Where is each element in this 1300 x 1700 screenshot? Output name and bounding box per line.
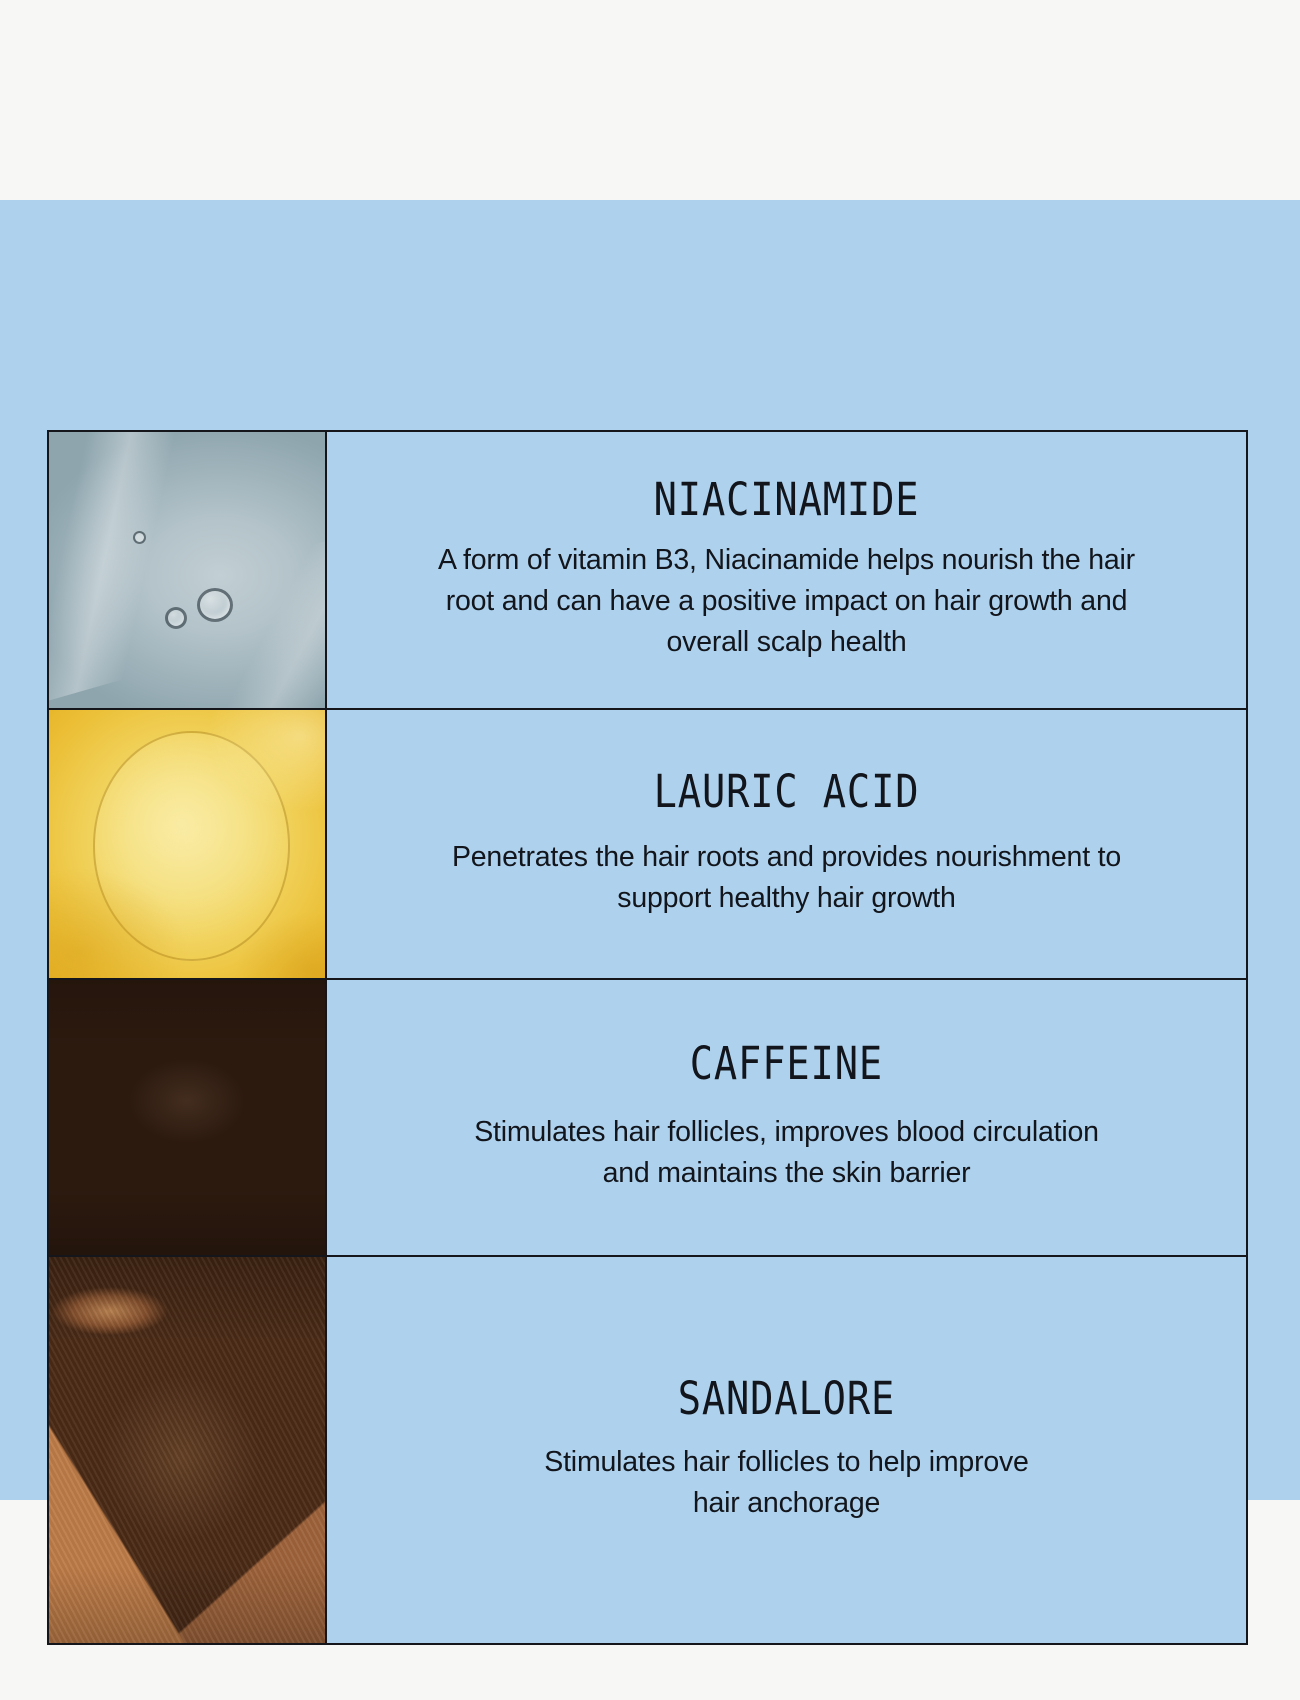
text-cell-lauric-acid: LAURIC ACID Penetrates the hair roots an…	[327, 710, 1246, 978]
table-row: CAFFEINE Stimulates hair follicles, impr…	[49, 980, 1246, 1257]
swatch-cell-lauric-acid	[49, 710, 327, 978]
lauric-acid-oil-swatch	[49, 710, 325, 978]
text-cell-niacinamide: NIACINAMIDE A form of vitamin B3, Niacin…	[327, 432, 1246, 708]
table-row: NIACINAMIDE A form of vitamin B3, Niacin…	[49, 432, 1246, 710]
ingredient-title: SANDALORE	[678, 1376, 895, 1423]
ingredient-title: NIACINAMIDE	[654, 477, 920, 524]
bubble-icon	[197, 588, 233, 622]
ingredient-title: CAFFEINE	[690, 1041, 883, 1088]
ingredient-description: Stimulates hair follicles to help improv…	[527, 1442, 1047, 1524]
swatch-cell-niacinamide	[49, 432, 327, 708]
niacinamide-serum-swatch	[49, 432, 325, 708]
table-row: LAURIC ACID Penetrates the hair roots an…	[49, 710, 1246, 980]
table-row: SANDALORE Stimulates hair follicles to h…	[49, 1257, 1246, 1643]
ingredient-description: A form of vitamin B3, Niacinamide helps …	[417, 540, 1157, 663]
ingredient-description: Penetrates the hair roots and provides n…	[437, 837, 1137, 919]
text-cell-caffeine: CAFFEINE Stimulates hair follicles, impr…	[327, 980, 1246, 1255]
screenshot-stage: NIACINAMIDE A form of vitamin B3, Niacin…	[0, 0, 1300, 1700]
bubble-icon	[165, 607, 187, 629]
caffeine-coffee-beans-swatch	[49, 980, 325, 1255]
ingredient-benefits-table: NIACINAMIDE A form of vitamin B3, Niacin…	[47, 430, 1248, 1645]
swatch-cell-caffeine	[49, 980, 327, 1255]
sandalore-sandalwood-swatch	[49, 1257, 325, 1643]
ingredient-panel: NIACINAMIDE A form of vitamin B3, Niacin…	[0, 200, 1300, 1500]
bubble-icon	[133, 531, 146, 544]
swatch-cell-sandalore	[49, 1257, 327, 1643]
ingredient-description: Stimulates hair follicles, improves bloo…	[457, 1112, 1117, 1194]
text-cell-sandalore: SANDALORE Stimulates hair follicles to h…	[327, 1257, 1246, 1643]
ingredient-title: LAURIC ACID	[654, 769, 920, 816]
